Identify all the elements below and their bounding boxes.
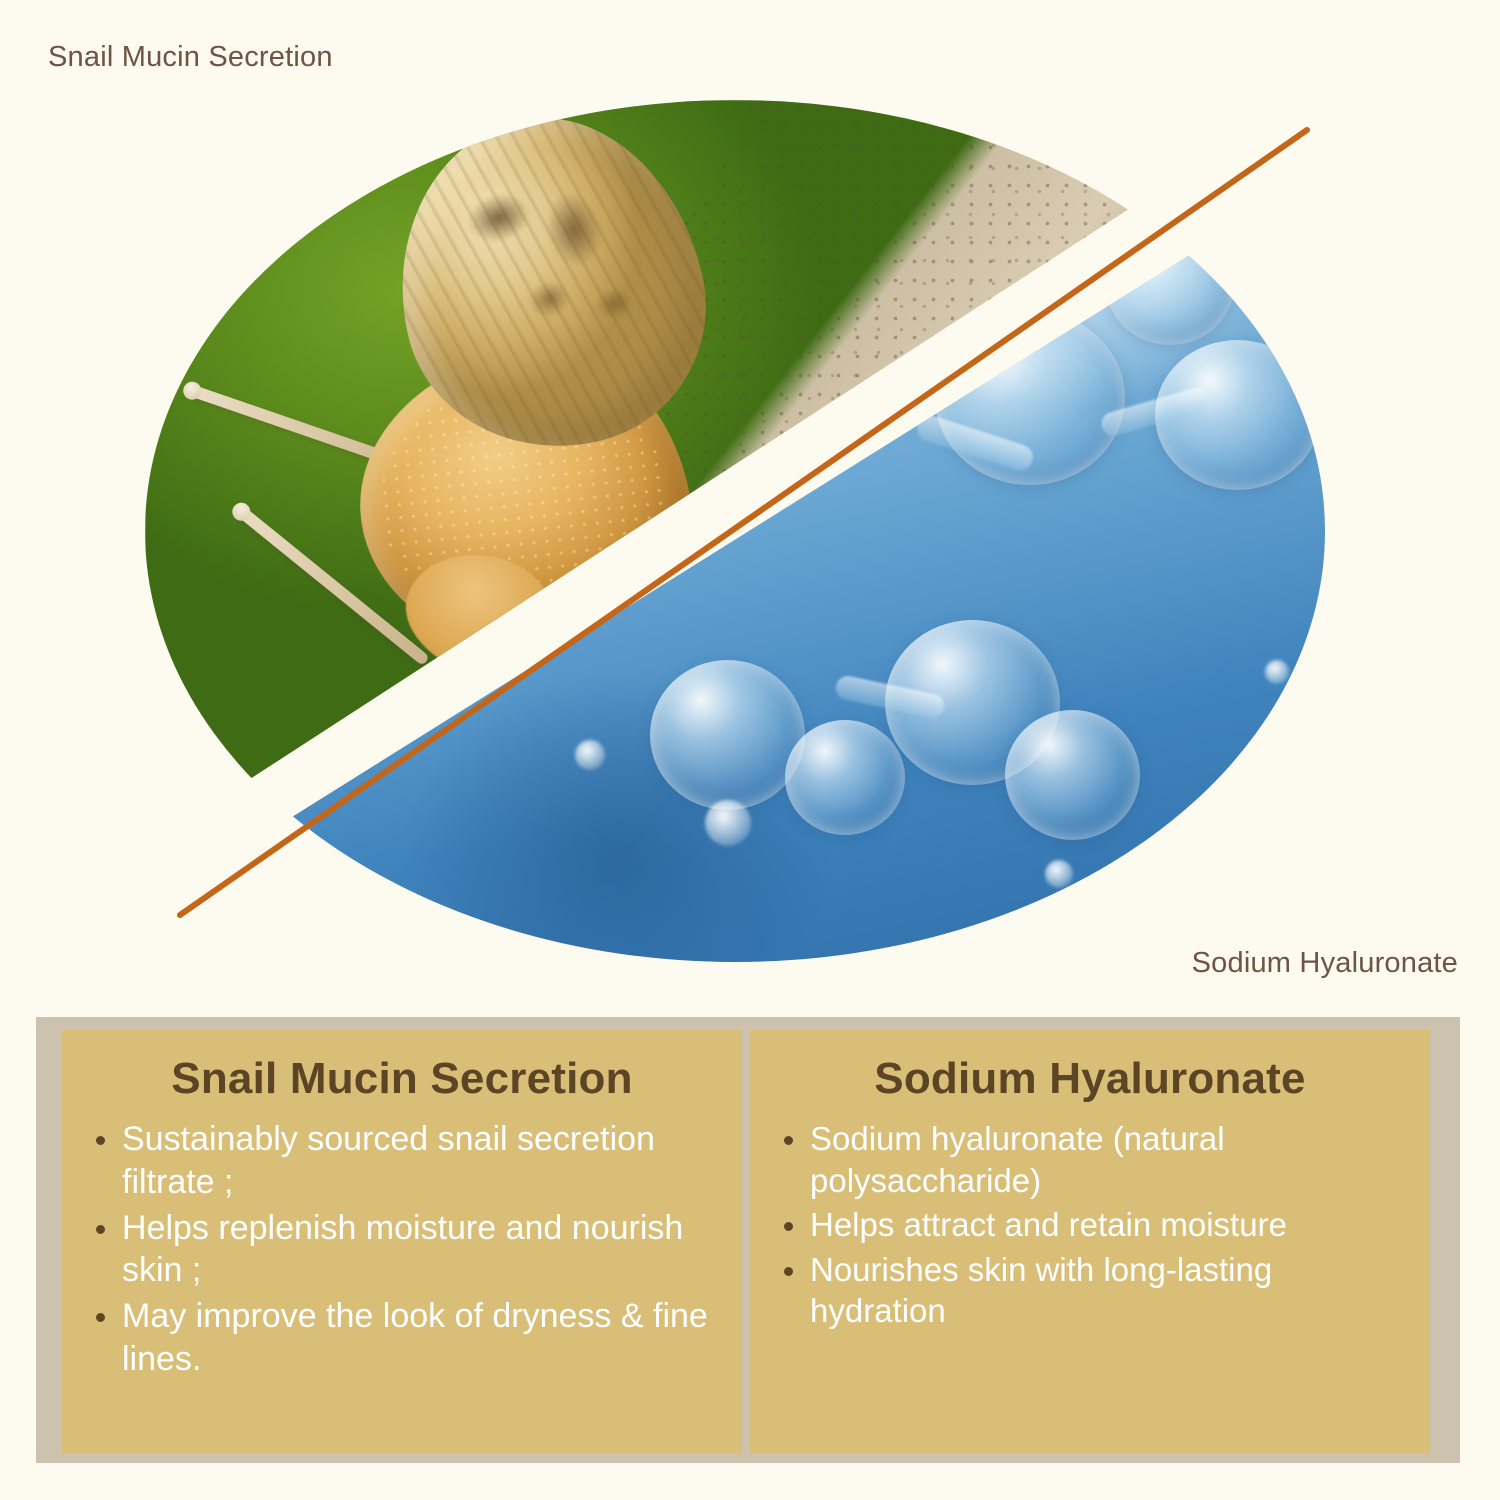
- hero-split-circle-image: [145, 100, 1325, 962]
- panel-title-snail-mucin: Snail Mucin Secretion: [88, 1054, 716, 1104]
- light-bokeh: [705, 800, 751, 846]
- light-bokeh: [575, 740, 605, 770]
- panel-column-snail-mucin: Snail Mucin Secretion Sustainably source…: [62, 1030, 742, 1453]
- bubble: [785, 720, 905, 835]
- caption-snail-mucin: Snail Mucin Secretion: [48, 41, 333, 74]
- light-bokeh: [1235, 190, 1273, 228]
- panel-column-divider: [742, 1030, 750, 1453]
- list-item: Helps attract and retain moisture: [776, 1204, 1404, 1246]
- bubble: [650, 660, 805, 810]
- list-item: May improve the look of dryness & fine l…: [88, 1295, 716, 1381]
- bullet-list-sodium-hyaluronate: Sodium hyaluronate (natural polysacchari…: [776, 1118, 1404, 1332]
- bullet-list-snail-mucin: Sustainably sourced snail secretion filt…: [88, 1118, 716, 1381]
- light-bokeh: [1045, 860, 1073, 888]
- list-item: Helps replenish moisture and nourish ski…: [88, 1207, 716, 1293]
- list-item: Sustainably sourced snail secretion filt…: [88, 1118, 716, 1204]
- bubble: [1105, 220, 1235, 345]
- list-item: Sodium hyaluronate (natural polysacchari…: [776, 1118, 1404, 1201]
- bubble: [1005, 710, 1140, 840]
- panel-title-sodium-hyaluronate: Sodium Hyaluronate: [776, 1054, 1404, 1104]
- list-item: Nourishes skin with long-lasting hydrati…: [776, 1249, 1404, 1332]
- ingredient-comparison-panel: Snail Mucin Secretion Sustainably source…: [36, 1017, 1460, 1463]
- panel-column-sodium-hyaluronate: Sodium Hyaluronate Sodium hyaluronate (n…: [750, 1030, 1430, 1453]
- light-bokeh: [1265, 660, 1289, 684]
